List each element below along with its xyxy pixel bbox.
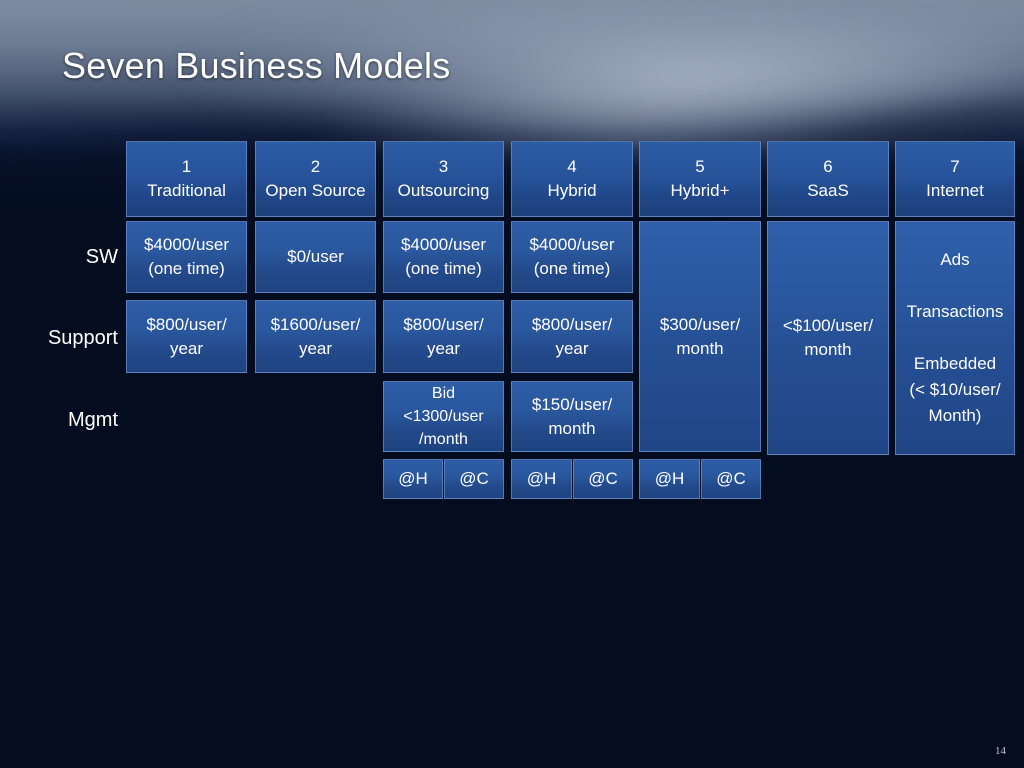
merged-cell-internet-text: Ads Transactions Embedded (< $10/user/ M… — [907, 247, 1004, 429]
column-header-2: 2 Open Source — [255, 141, 376, 217]
mgmt-cell-outsourcing-text: Bid <1300/user /month — [403, 382, 484, 451]
row-label-mgmt-text: Mgmt — [68, 409, 118, 431]
merged-cell-internet: Ads Transactions Embedded (< $10/user/ M… — [895, 221, 1015, 455]
mgmt-cell-hybrid: $150/user/ month — [511, 381, 633, 452]
location-tag-cloud-hybrid-plus: @C — [701, 459, 761, 499]
support-cell-traditional-text: $800/user/ year — [146, 313, 226, 361]
sw-cell-traditional: $4000/user (one time) — [126, 221, 247, 293]
column-header-1-text: 1 Traditional — [147, 155, 226, 203]
column-header-6: 6 SaaS — [767, 141, 889, 217]
slide-canvas: Seven Business Models 1 Traditional 2 Op… — [0, 0, 1024, 768]
location-tag-cloud-hybrid: @C — [573, 459, 633, 499]
support-cell-open-source-text: $1600/user/ year — [271, 313, 361, 361]
support-cell-outsourcing-text: $800/user/ year — [403, 313, 483, 361]
column-header-3: 3 Outsourcing — [383, 141, 504, 217]
merged-cell-hybrid-plus-text: $300/user/ month — [660, 313, 740, 361]
column-header-7-text: 7 Internet — [926, 155, 984, 203]
column-header-1: 1 Traditional — [126, 141, 247, 217]
sw-cell-traditional-text: $4000/user (one time) — [144, 233, 229, 281]
column-header-3-text: 3 Outsourcing — [398, 155, 490, 203]
sw-cell-open-source: $0/user — [255, 221, 376, 293]
mgmt-cell-outsourcing: Bid <1300/user /month — [383, 381, 504, 452]
location-tag-cloud-hybrid-text: @C — [588, 467, 618, 491]
location-tag-host-hybrid-plus: @H — [639, 459, 700, 499]
support-cell-traditional: $800/user/ year — [126, 300, 247, 373]
row-label-sw-text: SW — [86, 246, 118, 268]
column-header-5-text: 5 Hybrid+ — [670, 155, 729, 203]
mgmt-cell-hybrid-text: $150/user/ month — [532, 393, 612, 441]
support-cell-open-source: $1600/user/ year — [255, 300, 376, 373]
location-tag-host-hybrid-text: @H — [527, 467, 557, 491]
row-label-mgmt: Mgmt — [0, 407, 118, 433]
location-tag-host-outsourcing-text: @H — [398, 467, 428, 491]
column-header-7: 7 Internet — [895, 141, 1015, 217]
support-cell-outsourcing: $800/user/ year — [383, 300, 504, 373]
support-cell-hybrid: $800/user/ year — [511, 300, 633, 373]
business-models-matrix: 1 Traditional 2 Open Source 3 Outsourcin… — [0, 0, 1024, 768]
sw-cell-outsourcing: $4000/user (one time) — [383, 221, 504, 293]
location-tag-cloud-outsourcing-text: @C — [459, 467, 489, 491]
column-header-2-text: 2 Open Source — [265, 155, 365, 203]
location-tag-cloud-outsourcing: @C — [444, 459, 504, 499]
merged-cell-saas: <$100/user/ month — [767, 221, 889, 455]
location-tag-host-hybrid-plus-text: @H — [655, 467, 685, 491]
column-header-4: 4 Hybrid — [511, 141, 633, 217]
column-header-4-text: 4 Hybrid — [547, 155, 596, 203]
sw-cell-hybrid-text: $4000/user (one time) — [529, 233, 614, 281]
sw-cell-outsourcing-text: $4000/user (one time) — [401, 233, 486, 281]
row-label-support: Support — [0, 325, 118, 351]
support-cell-hybrid-text: $800/user/ year — [532, 313, 612, 361]
location-tag-host-hybrid: @H — [511, 459, 572, 499]
sw-cell-open-source-text: $0/user — [287, 245, 344, 269]
location-tag-host-outsourcing: @H — [383, 459, 443, 499]
location-tag-cloud-hybrid-plus-text: @C — [716, 467, 746, 491]
page-number: 14 — [995, 744, 1006, 758]
column-header-6-text: 6 SaaS — [807, 155, 849, 203]
column-header-5: 5 Hybrid+ — [639, 141, 761, 217]
merged-cell-hybrid-plus: $300/user/ month — [639, 221, 761, 452]
merged-cell-saas-text: <$100/user/ month — [783, 314, 873, 362]
sw-cell-hybrid: $4000/user (one time) — [511, 221, 633, 293]
row-label-support-text: Support — [48, 327, 118, 349]
row-label-sw: SW — [0, 244, 118, 270]
